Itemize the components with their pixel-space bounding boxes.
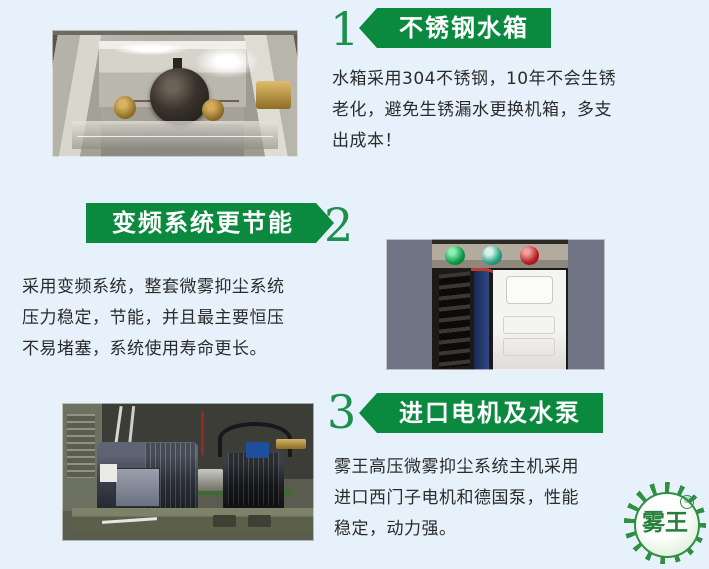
section-body-1-line: 老化，避免生锈漏水更换机箱，多支	[332, 95, 692, 126]
section-banner-2: 变频系统更节能	[86, 203, 334, 243]
section-body-2-line: 采用变频系统，整套微雾抑尘系统	[22, 272, 372, 303]
product-feature-poster: 1 不锈钢水箱 水箱采用304不锈钢，10年不会生锈 老化，避免生锈漏水更换机箱…	[0, 0, 709, 569]
section-body-2-line: 不易堵塞，系统使用寿命更长。	[22, 334, 372, 365]
frequency-converter-cabinet-photo	[386, 239, 605, 370]
section-banner-2-label: 变频系统更节能	[112, 211, 294, 235]
section-body-1-line: 水箱采用304不锈钢，10年不会生锈	[332, 64, 692, 95]
section-number-3: 3	[327, 389, 356, 435]
photo-frame	[52, 30, 298, 157]
section-banner-1: 不锈钢水箱	[359, 8, 551, 48]
brand-logo: 雾王 ®	[623, 481, 707, 565]
section-banner-3: 进口电机及水泵	[359, 393, 603, 433]
photo-frame	[386, 239, 605, 370]
photo-frame	[62, 403, 314, 541]
imported-motor-and-pump-photo	[62, 403, 314, 541]
section-number-1: 1	[330, 6, 359, 52]
section-body-2-line: 压力稳定，节能，并且最主要恒压	[22, 303, 372, 334]
registered-trademark-icon: ®	[680, 495, 694, 509]
section-number-2: 2	[324, 202, 353, 248]
section-body-1: 水箱采用304不锈钢，10年不会生锈 老化，避免生锈漏水更换机箱，多支 出成本！	[332, 64, 692, 157]
section-banner-1-label: 不锈钢水箱	[399, 16, 529, 40]
section-body-1-line: 出成本！	[332, 126, 692, 157]
section-body-2: 采用变频系统，整套微雾抑尘系统 压力稳定，节能，并且最主要恒压 不易堵塞，系统使…	[22, 272, 372, 365]
section-body-3-line: 雾王高压微雾抑尘系统主机采用	[334, 452, 674, 483]
stainless-steel-water-tank-photo	[52, 30, 298, 157]
section-banner-3-label: 进口电机及水泵	[399, 401, 581, 425]
